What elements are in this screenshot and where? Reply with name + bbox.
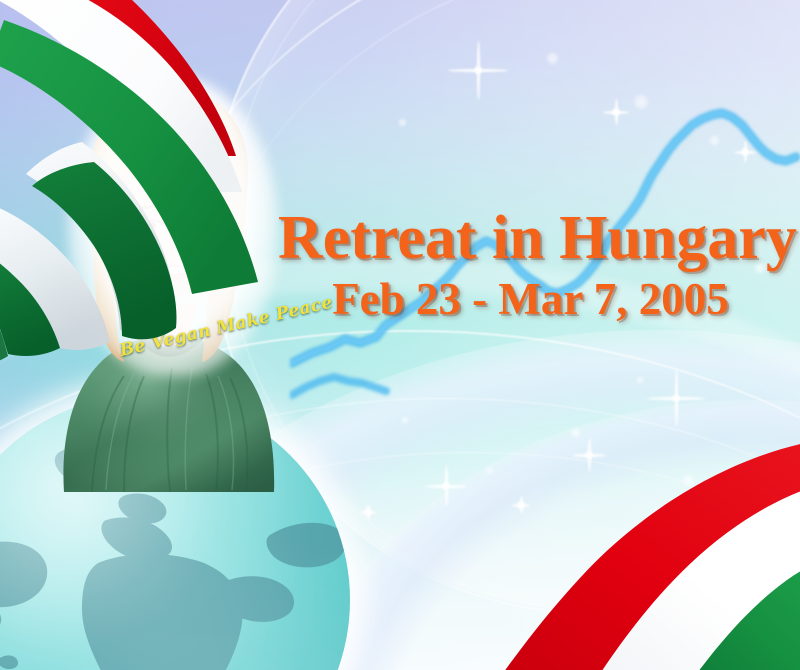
headline-block: Retreat in Hungary Feb 23 - Mar 7, 2005 [278,207,783,322]
bokeh-dot [709,135,720,146]
event-dates: Feb 23 - Mar 7, 2005 [278,277,783,322]
poster-canvas: Be Vegan Make Peace [0,0,800,670]
flag-ribbon-bottom-right [430,400,800,670]
flag-ribbon-top-left [0,0,420,390]
bokeh-dot [401,416,409,424]
bokeh-dot [636,376,644,384]
bokeh-dot [546,52,559,65]
page-title: Retreat in Hungary [278,207,783,269]
bokeh-dot [633,94,649,110]
